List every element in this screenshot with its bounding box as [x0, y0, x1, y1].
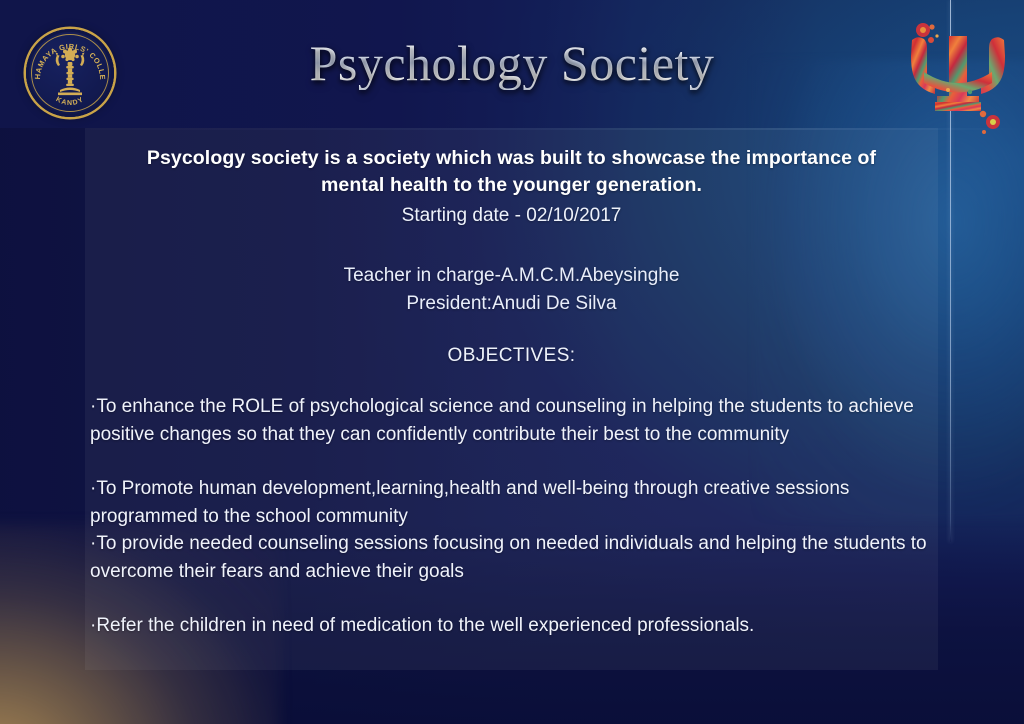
- objectives-heading: OBJECTIVES:: [87, 345, 936, 367]
- slide-title: Psychology Society: [0, 36, 1024, 90]
- president: President:Anudi De Silva: [87, 290, 936, 318]
- staff-block: Teacher in charge-A.M.C.M.Abeysinghe Pre…: [87, 262, 936, 318]
- list-item: ·To enhance the ROLE of psychological sc…: [90, 393, 930, 448]
- list-item: ·Refer the children in need of medicatio…: [90, 612, 930, 640]
- intro-paragraph: Psycology society is a society which was…: [101, 145, 922, 200]
- intro-line-1: Psycology society is a society which was…: [101, 145, 922, 172]
- svg-text:KANDY: KANDY: [54, 96, 85, 107]
- list-item: ·To provide needed counseling sessions f…: [90, 530, 930, 585]
- intro-line-2: mental health to the younger generation.: [101, 172, 922, 199]
- content-panel: Psycology society is a society which was…: [85, 128, 938, 670]
- list-item-text: Refer the children in need of medication…: [96, 615, 754, 636]
- list-item: ·To Promote human development,learning,h…: [90, 475, 930, 530]
- starting-date: Starting date - 02/10/2017: [87, 202, 936, 230]
- psi-artwork: [898, 14, 1018, 138]
- objectives-list: ·To enhance the ROLE of psychological sc…: [87, 393, 936, 640]
- presentation-slide: MAHAMAYA GIRLS' COLLEGE KANDY Psychology…: [0, 0, 1024, 724]
- list-item-text: To enhance the ROLE of psychological sci…: [90, 396, 914, 445]
- list-item-text: To Promote human development,learning,he…: [90, 478, 849, 527]
- teacher-in-charge: Teacher in charge-A.M.C.M.Abeysinghe: [87, 262, 936, 290]
- psi-symbol-icon: [898, 14, 1018, 138]
- list-item-text: To provide needed counseling sessions fo…: [90, 533, 927, 582]
